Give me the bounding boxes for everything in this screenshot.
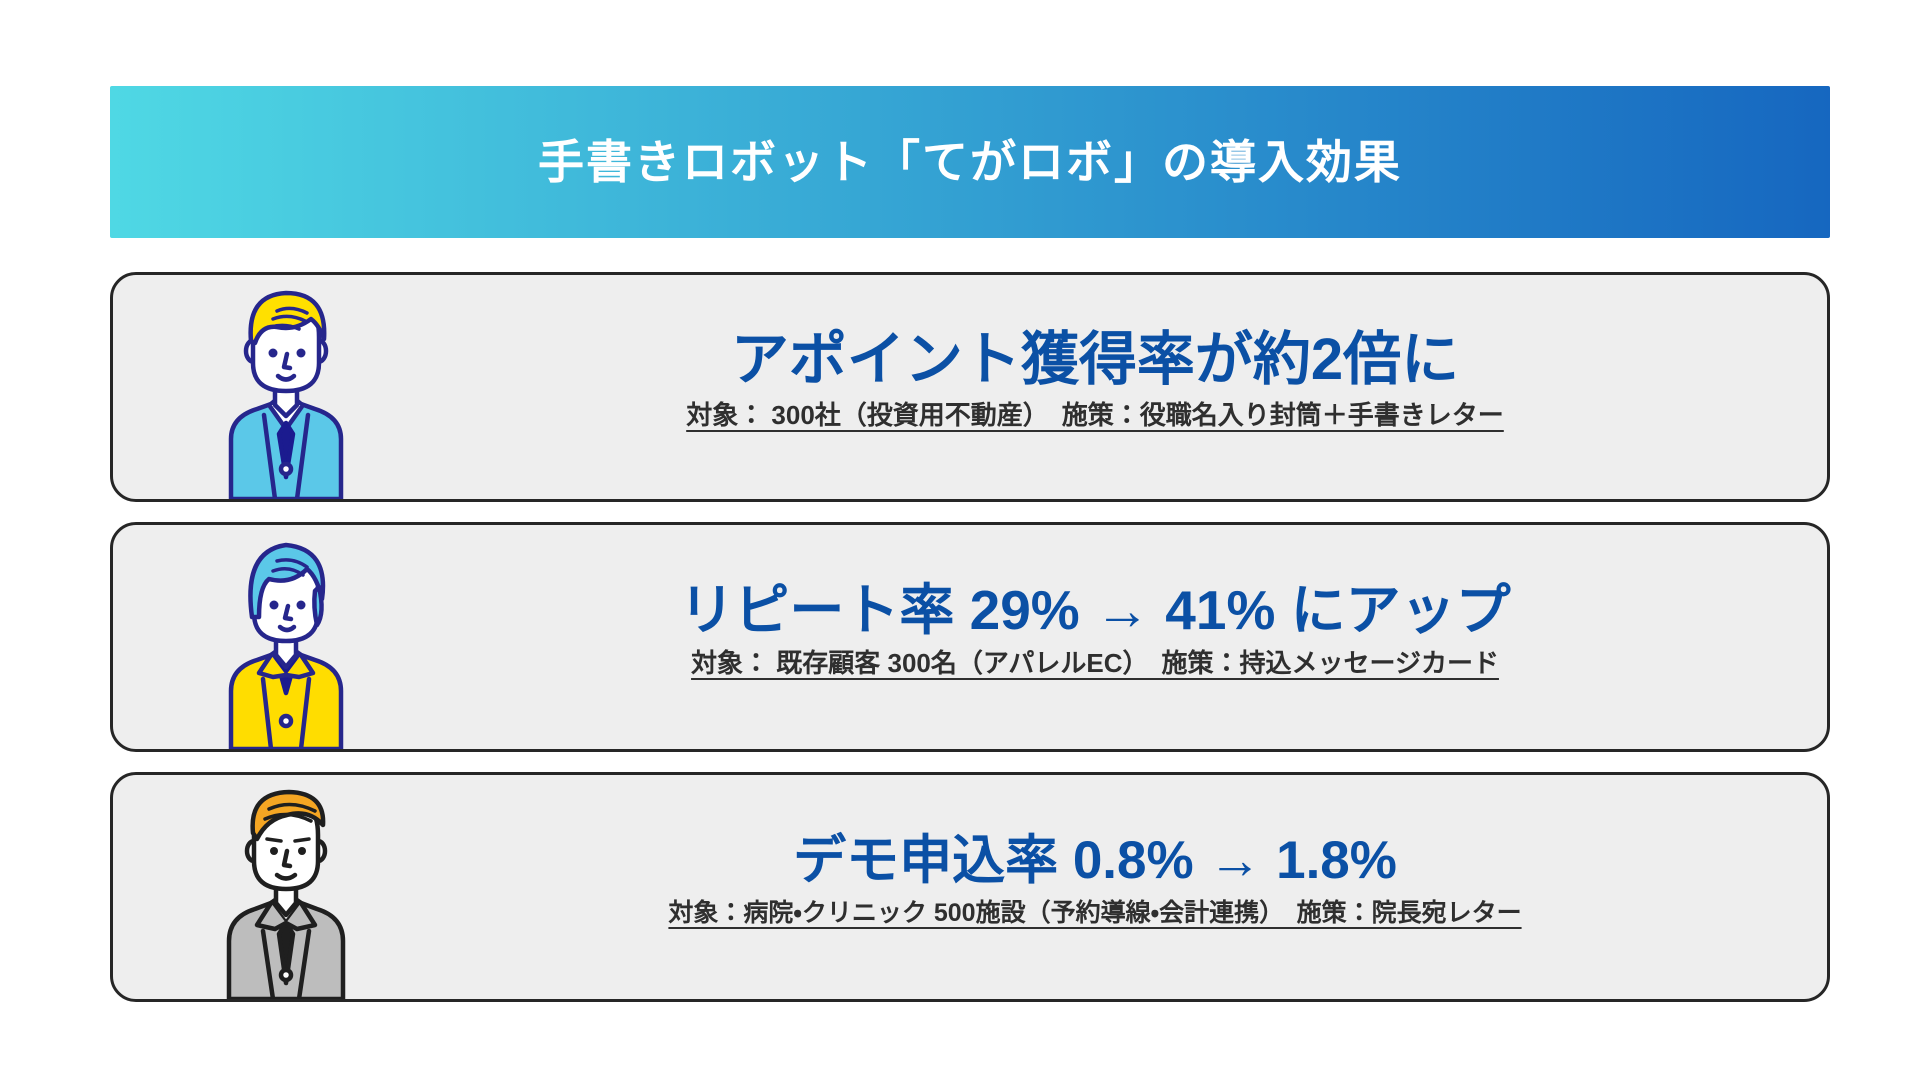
businesswoman-yellow-jacket-icon <box>191 522 381 749</box>
header-banner: 手書きロボット「てがロボ」の導入効果 <box>110 86 1830 238</box>
result-card-text: リピート率 29% → 41% にアップ 対象： 既存顧客 300名（アパレルE… <box>403 525 1787 749</box>
results-card-list: アポイント獲得率が約2倍に 対象： 300社（投資用不動産） 施策：役職名入り封… <box>110 272 1830 1022</box>
slide-canvas: 手書きロボット「てがロボ」の導入効果 <box>0 0 1920 1080</box>
result-subtext: 対象： 300社（投資用不動産） 施策：役職名入り封筒＋手書きレター <box>686 399 1504 433</box>
businessman-grey-suit-icon <box>191 772 381 999</box>
result-subtext: 対象：病院・クリニック 500施設（予約導線・会計連携） 施策：院長宛レター <box>668 897 1521 930</box>
result-headline: リピート率 29% → 41% にアップ <box>679 579 1510 642</box>
result-card-text: アポイント獲得率が約2倍に 対象： 300社（投資用不動産） 施策：役職名入り封… <box>403 275 1787 499</box>
result-headline: アポイント獲得率が約2倍に <box>731 327 1459 393</box>
page-title: 手書きロボット「てがロボ」の導入効果 <box>538 139 1402 185</box>
businessman-cyan-suit-icon <box>191 272 381 499</box>
result-card-text: デモ申込率 0.8% → 1.8% 対象：病院・クリニック 500施設（予約導線… <box>403 775 1787 999</box>
result-headline: デモ申込率 0.8% → 1.8% <box>793 831 1397 891</box>
result-card-demo-request-rate[interactable]: デモ申込率 0.8% → 1.8% 対象：病院・クリニック 500施設（予約導線… <box>110 772 1830 1002</box>
result-card-repeat-rate[interactable]: リピート率 29% → 41% にアップ 対象： 既存顧客 300名（アパレルE… <box>110 522 1830 752</box>
result-card-appointment-rate[interactable]: アポイント獲得率が約2倍に 対象： 300社（投資用不動産） 施策：役職名入り封… <box>110 272 1830 502</box>
result-subtext: 対象： 既存顧客 300名（アパレルEC） 施策：持込メッセージカード <box>691 647 1499 681</box>
